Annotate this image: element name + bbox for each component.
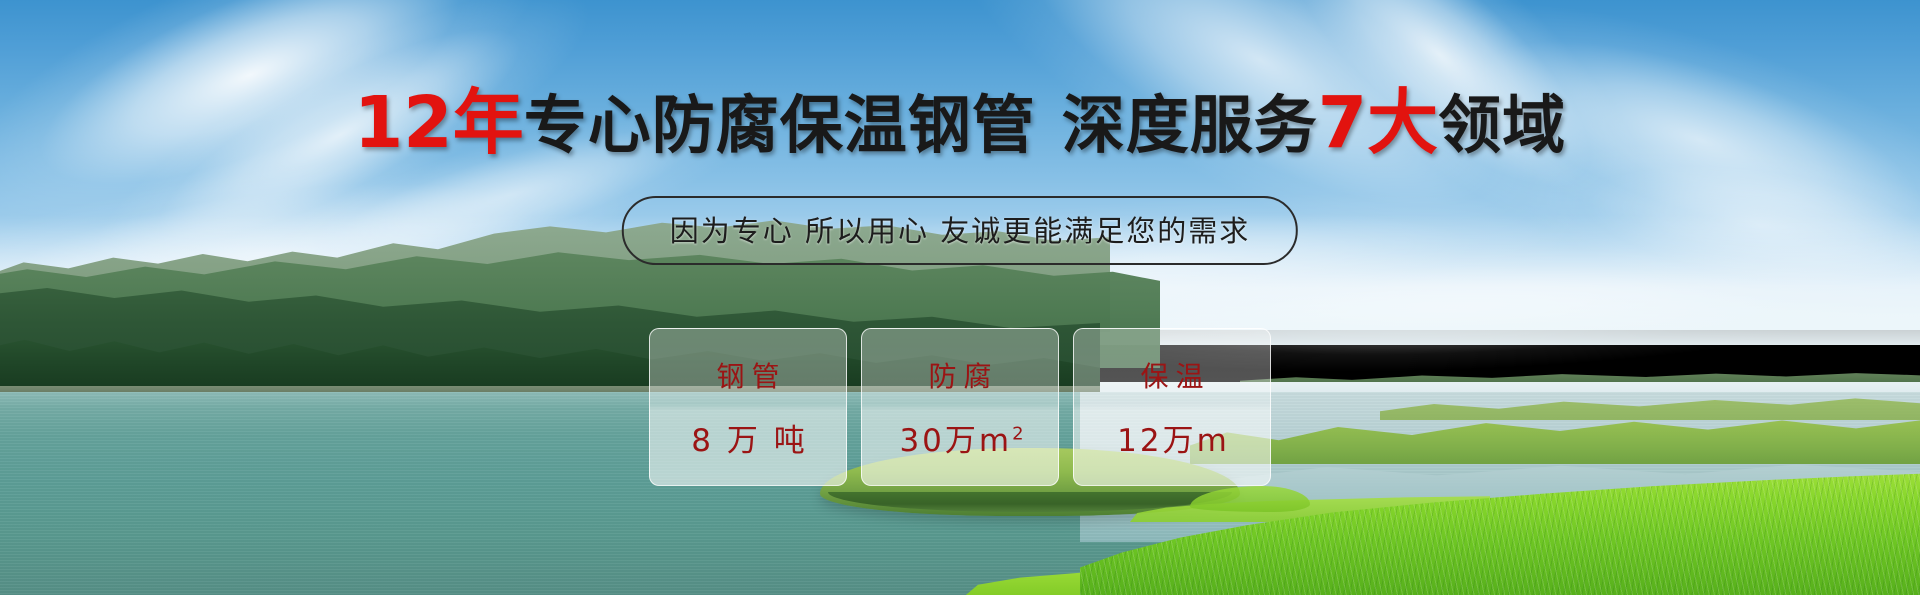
headline-main-dark: 专心防腐保温钢管	[524, 89, 1036, 162]
stat-card-title: 钢管	[709, 355, 786, 395]
stat-card-value-superscript: 2	[1012, 423, 1023, 444]
stat-card-value-text: 30万m	[899, 423, 1012, 459]
stat-card-steel-pipe: 钢管 8 万 吨	[649, 328, 847, 486]
stat-card-title: 防腐	[921, 355, 998, 395]
banner-content: 12年专心防腐保温钢管深度服务7大领域 因为专心 所以用心 友诚更能满足您的需求…	[0, 0, 1920, 595]
stat-card-list: 钢管 8 万 吨 防腐 30万m2 保温 12万m	[649, 328, 1271, 486]
banner-subtitle-pill: 因为专心 所以用心 友诚更能满足您的需求	[622, 196, 1298, 265]
banner-headline: 12年专心防腐保温钢管深度服务7大领域	[0, 86, 1920, 161]
stat-card-anticorrosion: 防腐 30万m2	[861, 328, 1059, 486]
headline-years-red: 12年	[354, 81, 524, 164]
stat-card-value: 8 万 吨	[688, 415, 807, 460]
stat-card-value-text: 8 万 吨	[691, 423, 807, 459]
headline-service-dark: 深度服务	[1062, 89, 1318, 162]
stat-card-value-text: 12万m	[1117, 423, 1230, 459]
stat-card-title: 保温	[1133, 355, 1210, 395]
headline-fields-dark: 领域	[1438, 89, 1566, 162]
hero-banner: 12年专心防腐保温钢管深度服务7大领域 因为专心 所以用心 友诚更能满足您的需求…	[0, 0, 1920, 595]
stat-card-value: 30万m2	[896, 415, 1023, 460]
stat-card-insulation: 保温 12万m	[1073, 328, 1271, 486]
stat-card-value: 12万m	[1114, 415, 1230, 460]
headline-seven-red: 7大	[1318, 81, 1438, 164]
